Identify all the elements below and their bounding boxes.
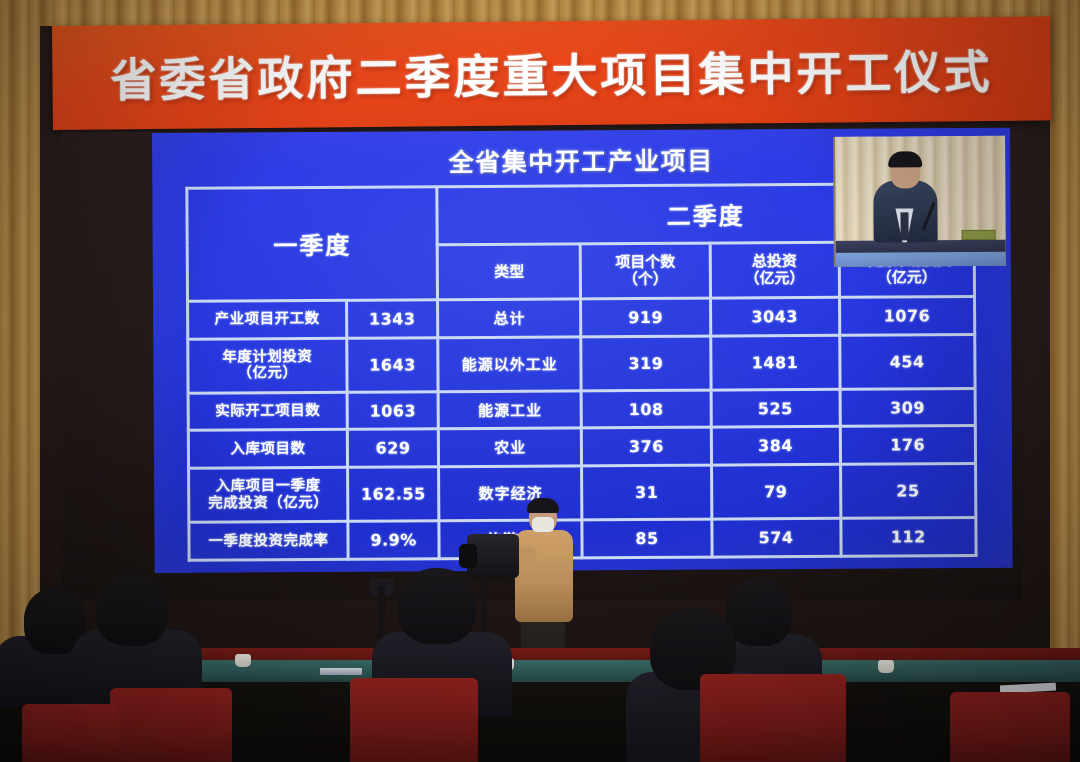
q2-total-4: 79 xyxy=(711,464,840,519)
q1-label-1-line2: （亿元） xyxy=(191,365,343,382)
col-header-project-count-line1: 项目个数 xyxy=(584,254,706,271)
col-header-category: 类型 xyxy=(437,244,581,300)
q1-label-3: 入库项目数 xyxy=(188,430,347,469)
col-header-annual-planned-line2: （亿元） xyxy=(842,269,971,286)
q2-total-0: 3043 xyxy=(710,297,839,335)
col-header-total-investment-line1: 总投资 xyxy=(713,253,835,270)
q2-total-5: 574 xyxy=(711,519,840,557)
face-mask-icon xyxy=(532,517,554,532)
q2-total-1: 1481 xyxy=(710,335,839,390)
q2-annual-0: 1076 xyxy=(839,296,975,334)
chair xyxy=(110,688,232,762)
video-camera-lens xyxy=(459,544,477,568)
pip-speaker-tie xyxy=(900,212,908,240)
cup xyxy=(235,654,251,667)
q1-label-4: 入库项目一季度 完成投资（亿元） xyxy=(189,467,348,522)
q1-value-5: 9.9% xyxy=(348,521,440,559)
pip-name-plate xyxy=(962,230,996,240)
attendee-head xyxy=(96,574,168,646)
table-row: 入库项目数 629 农业 376 384 176 xyxy=(188,426,975,468)
q1-value-3: 629 xyxy=(347,429,439,467)
q1-label-4-line2: 完成投资（亿元） xyxy=(192,495,344,512)
q2-count-2: 108 xyxy=(582,390,711,428)
q1-label-2: 实际开工项目数 xyxy=(188,392,347,431)
q2-annual-3: 176 xyxy=(840,426,976,464)
q1-label-1-line1: 年度计划投资 xyxy=(191,349,343,366)
chair xyxy=(950,692,1070,762)
pip-desk-front-panel xyxy=(836,252,1006,267)
q2-category-2: 能源工业 xyxy=(438,391,581,430)
audience-area xyxy=(0,572,1080,762)
event-banner: 省委省政府二季度重大项目集中开工仪式 xyxy=(52,16,1051,130)
conference-hall-photo: 省委省政府二季度重大项目集中开工仪式 全省集中开工产业项目 一季度 二季度 xyxy=(0,0,1080,762)
chair xyxy=(700,674,846,762)
q2-annual-2: 309 xyxy=(840,388,976,426)
notebook xyxy=(320,668,362,675)
chair xyxy=(350,678,478,762)
q2-category-1: 能源以外工业 xyxy=(438,336,582,391)
speaker-video-inset xyxy=(833,136,1006,267)
q2-total-2: 525 xyxy=(711,389,840,427)
q2-count-5: 85 xyxy=(582,519,711,557)
event-banner-text: 省委省政府二季度重大项目集中开工仪式 xyxy=(110,36,993,110)
q2-total-3: 384 xyxy=(711,427,840,465)
q1-label-1: 年度计划投资 （亿元） xyxy=(188,338,347,393)
q2-annual-1: 454 xyxy=(839,334,975,389)
q2-annual-4: 25 xyxy=(840,464,976,519)
camera-operator-hair xyxy=(527,498,559,513)
cup xyxy=(878,660,894,673)
header-q1: 一季度 xyxy=(187,187,438,301)
chair xyxy=(22,704,118,762)
q2-annual-5: 112 xyxy=(840,518,976,557)
table-row: 产业项目开工数 1343 总计 919 3043 1076 xyxy=(188,296,975,338)
q2-count-3: 376 xyxy=(582,428,711,466)
q1-value-4: 162.55 xyxy=(348,467,440,522)
q1-value-0: 1343 xyxy=(346,300,438,338)
table-row: 年度计划投资 （亿元） 1643 能源以外工业 319 1481 454 xyxy=(188,334,975,393)
q1-label-4-line1: 入库项目一季度 xyxy=(192,478,344,495)
q1-label-0: 产业项目开工数 xyxy=(188,300,347,339)
pip-speaker-hair xyxy=(888,151,922,167)
col-header-total-investment-line2: （亿元） xyxy=(713,270,835,287)
q2-category-3: 农业 xyxy=(439,428,582,467)
attendee-head xyxy=(726,578,792,646)
q2-count-1: 319 xyxy=(581,336,710,391)
q1-value-2: 1063 xyxy=(347,392,439,430)
attendee-head xyxy=(398,568,476,644)
q1-label-5: 一季度投资完成率 xyxy=(189,522,348,561)
q1-value-1: 1643 xyxy=(347,337,439,392)
col-header-project-count-line2: （个） xyxy=(584,271,706,288)
q2-count-0: 919 xyxy=(581,298,710,336)
col-header-total-investment: 总投资 （亿元） xyxy=(710,242,839,298)
col-header-project-count: 项目个数 （个） xyxy=(581,243,710,299)
q2-count-4: 31 xyxy=(582,465,711,520)
table-row: 实际开工项目数 1063 能源工业 108 525 309 xyxy=(188,388,975,430)
q2-category-0: 总计 xyxy=(438,299,581,338)
